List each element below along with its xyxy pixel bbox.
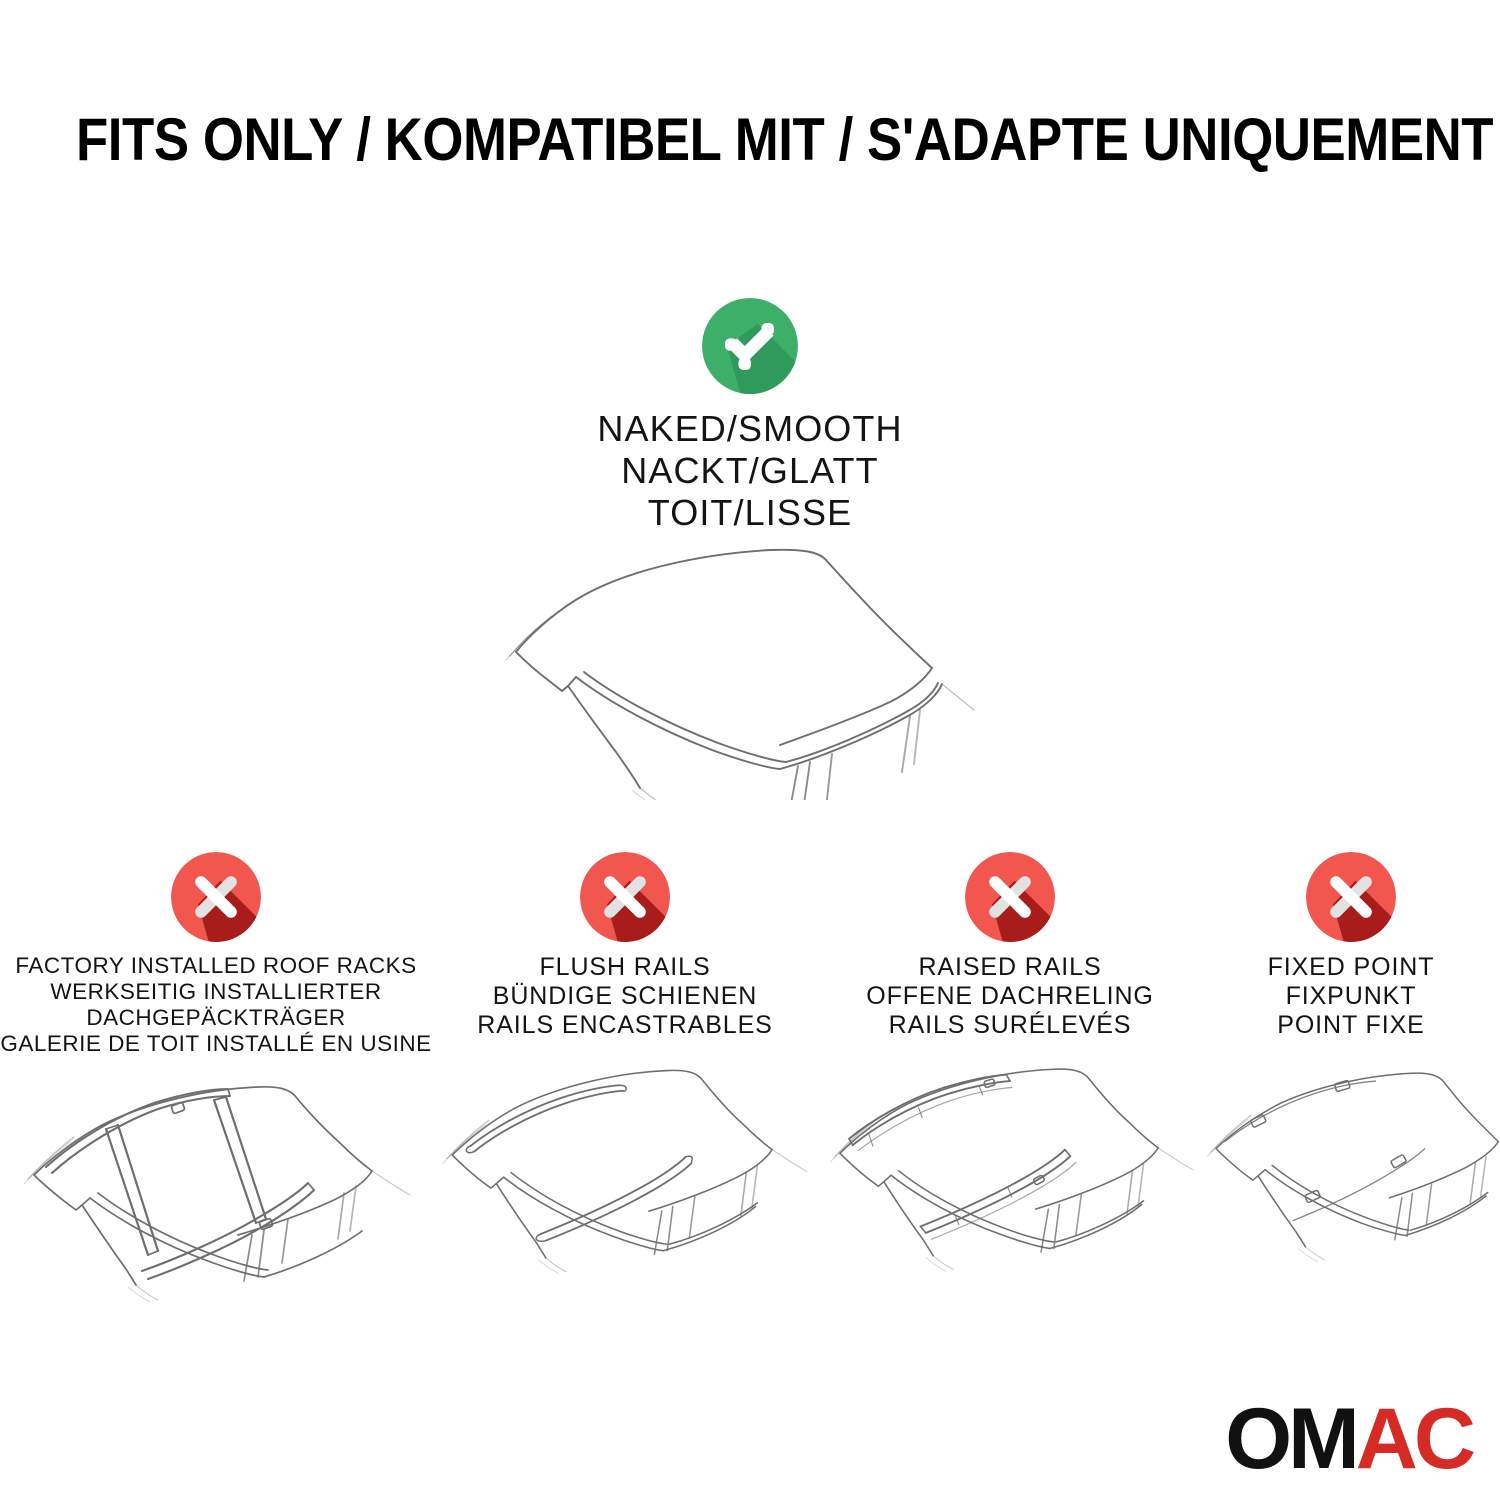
omac-logo: OMAC	[1225, 1396, 1472, 1482]
compatible-label-line-1: NAKED/SMOOTH	[597, 408, 902, 450]
x-circle-svg	[580, 852, 670, 942]
incompatible-label-flush-rails: FLUSH RAILS BÜNDIGE SCHIENEN RAILS ENCAS…	[477, 953, 772, 1040]
naked-smooth-roof-illustration	[480, 540, 1020, 800]
infographic-page: FITS ONLY / KOMPATIBEL MIT / S'ADAPTE UN…	[0, 0, 1500, 1500]
incompatible-item-factory-roof-racks: FACTORY INSTALLED ROOF RACKS WERKSEITIG …	[0, 852, 432, 1302]
x-circle-icon	[965, 852, 1055, 942]
label-line-3: RAILS ENCASTRABLES	[477, 1011, 772, 1040]
raised-rails-roof-svg	[818, 1050, 1202, 1285]
raised-rails-roof-illustration	[818, 1050, 1202, 1285]
x-circle-svg	[965, 852, 1055, 942]
incompatible-item-fixed-point: FIXED POINT FIXPUNKT POINT FIXE	[1202, 852, 1500, 1285]
label-line-4: GALERIE DE TOIT INSTALLÉ EN USINE	[0, 1031, 431, 1057]
label-line-2: BÜNDIGE SCHIENEN	[477, 982, 772, 1011]
incompatible-item-raised-rails: RAISED RAILS OFFENE DACHRELING RAILS SUR…	[818, 852, 1202, 1285]
incompatible-row: FACTORY INSTALLED ROOF RACKS WERKSEITIG …	[0, 852, 1500, 1302]
incompatible-item-flush-rails: FLUSH RAILS BÜNDIGE SCHIENEN RAILS ENCAS…	[432, 852, 818, 1285]
incompatible-label-raised-rails: RAISED RAILS OFFENE DACHRELING RAILS SUR…	[866, 953, 1154, 1040]
compatible-block: NAKED/SMOOTH NACKT/GLATT TOIT/LISSE	[0, 298, 1500, 800]
x-circle-svg	[171, 852, 261, 942]
incompatible-label-fixed-point: FIXED POINT FIXPUNKT POINT FIXE	[1268, 953, 1435, 1040]
label-line-3: POINT FIXE	[1268, 1011, 1435, 1040]
flush-rails-roof-illustration	[432, 1050, 818, 1285]
check-circle-icon	[702, 298, 798, 394]
label-line-1: FACTORY INSTALLED ROOF RACKS	[0, 953, 431, 979]
factory-roof-rack-roof-svg	[0, 1067, 432, 1302]
label-line-3: DACHGEPÄCKTRÄGER	[0, 1005, 431, 1031]
check-circle-svg	[702, 298, 798, 394]
incompatible-label-factory-roof-racks: FACTORY INSTALLED ROOF RACKS WERKSEITIG …	[0, 953, 431, 1057]
label-line-1: FIXED POINT	[1268, 953, 1435, 982]
label-line-2: WERKSEITIG INSTALLIERTER	[0, 979, 431, 1005]
compatible-label-line-2: NACKT/GLATT	[597, 450, 902, 492]
logo-red-text: AC	[1356, 1396, 1472, 1482]
logo-dark-text: OM	[1225, 1396, 1356, 1482]
x-circle-icon	[580, 852, 670, 942]
compatible-label-line-3: TOIT/LISSE	[597, 492, 902, 534]
x-circle-svg	[1306, 852, 1396, 942]
fixed-point-roof-illustration	[1202, 1050, 1500, 1285]
naked-smooth-roof-svg	[480, 540, 1020, 800]
compatible-label: NAKED/SMOOTH NACKT/GLATT TOIT/LISSE	[597, 408, 902, 534]
label-line-2: FIXPUNKT	[1268, 982, 1435, 1011]
label-line-1: RAISED RAILS	[866, 953, 1154, 982]
label-line-3: RAILS SURÉLEVÉS	[866, 1011, 1154, 1040]
factory-roof-rack-roof-illustration	[0, 1067, 432, 1302]
x-circle-icon	[1306, 852, 1396, 942]
label-line-1: FLUSH RAILS	[477, 953, 772, 982]
fixed-point-roof-svg	[1202, 1050, 1500, 1285]
flush-rails-roof-svg	[432, 1050, 818, 1285]
page-title: FITS ONLY / KOMPATIBEL MIT / S'ADAPTE UN…	[76, 107, 1273, 173]
x-circle-icon	[171, 852, 261, 942]
label-line-2: OFFENE DACHRELING	[866, 982, 1154, 1011]
